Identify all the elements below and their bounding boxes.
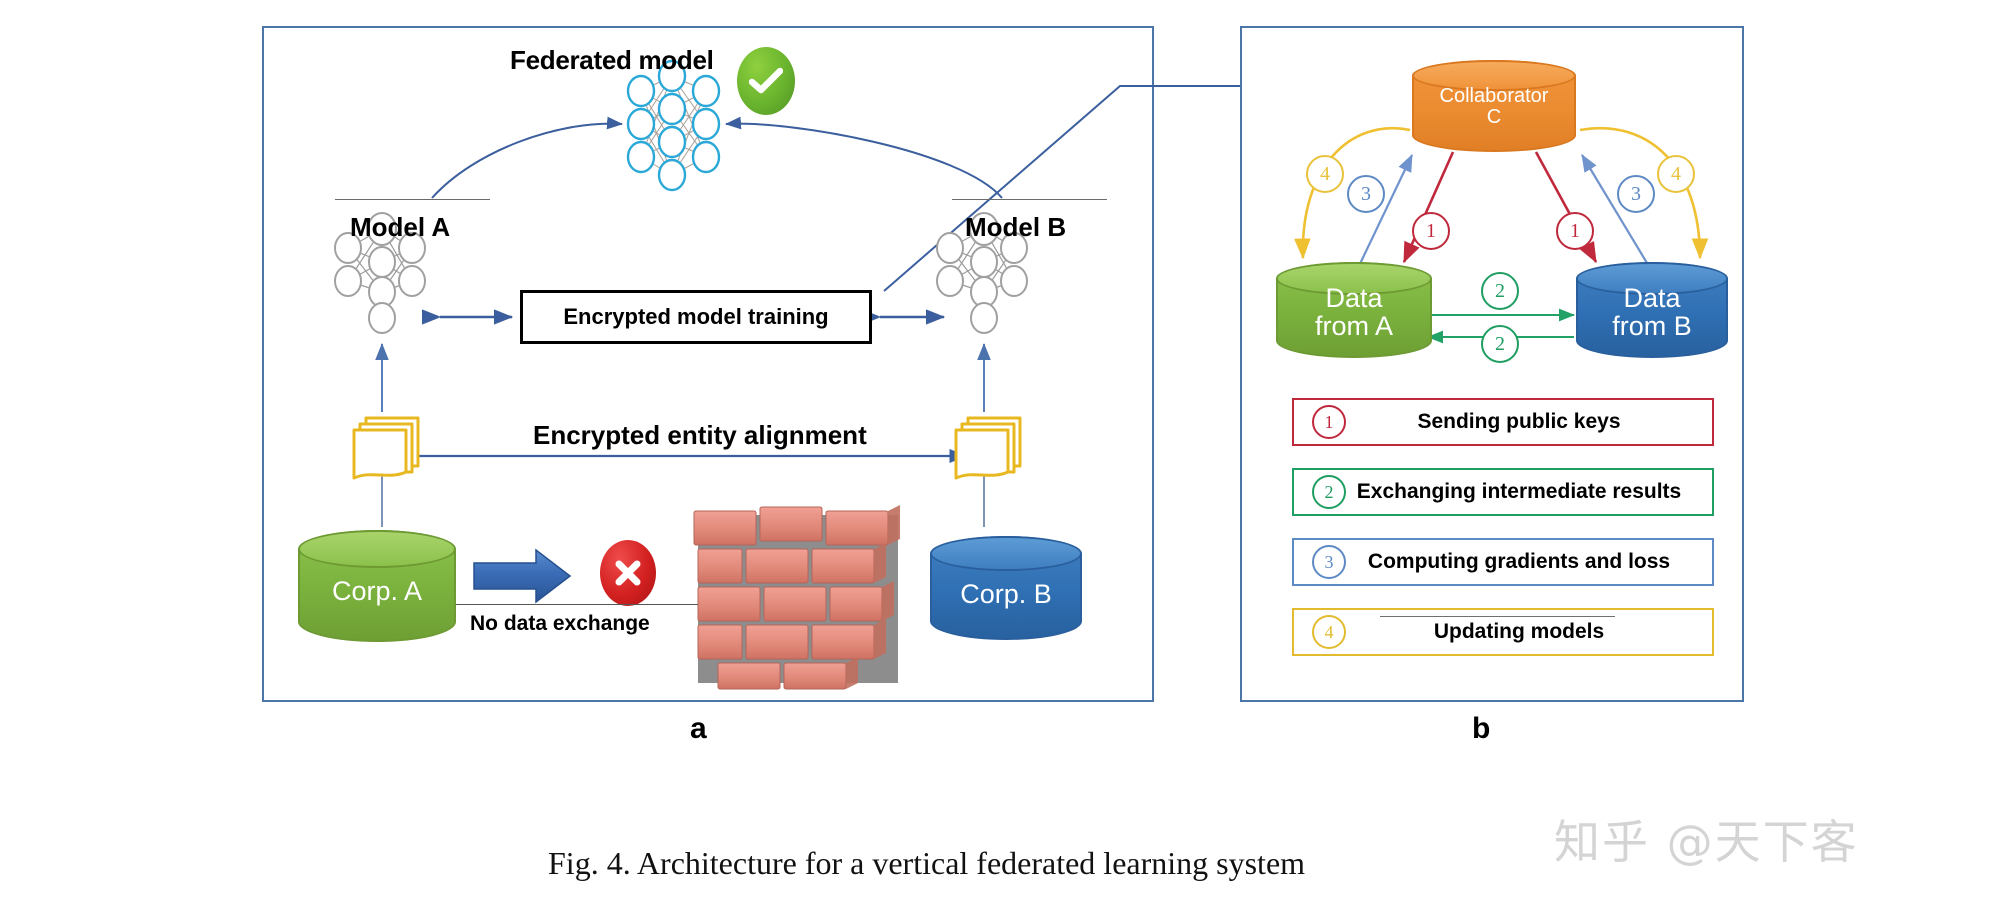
legend-row-3: 3 Computing gradients and loss	[1292, 538, 1714, 586]
cross-badge-icon	[600, 540, 656, 606]
data-from-b-label: Data from B	[1576, 284, 1728, 341]
figure-caption: Fig. 4. Architecture for a vertical fede…	[548, 845, 1305, 882]
data-a-line2: from A	[1276, 312, 1432, 340]
collaborator-line1: Collaborator	[1412, 86, 1576, 107]
legend-badge-2: 2	[1312, 475, 1346, 509]
step-marker-1-left: 1	[1412, 212, 1450, 250]
data-b-line2: from B	[1576, 312, 1728, 340]
collaborator-line2: C	[1412, 107, 1576, 128]
legend-badge-4: 4	[1312, 615, 1346, 649]
step-marker-3-right: 3	[1617, 175, 1655, 213]
figure-root: Federated model Model A Model B Encrypte…	[0, 0, 2006, 906]
model-b-rule	[952, 199, 1107, 200]
legend-text-3: Computing gradients and loss	[1346, 550, 1712, 574]
legend-row-4-rule	[1380, 616, 1615, 617]
no-data-exchange-rule	[438, 604, 698, 605]
step-marker-4-left: 4	[1306, 155, 1344, 193]
corp-b-label: Corp. B	[930, 580, 1082, 608]
legend-row-1: 1 Sending public keys	[1292, 398, 1714, 446]
legend-badge-3: 3	[1312, 545, 1346, 579]
check-mark-icon	[749, 67, 783, 95]
model-a-rule	[335, 199, 490, 200]
step-marker-2-bottom: 2	[1481, 325, 1519, 363]
federated-model-title: Federated model	[510, 45, 714, 76]
collaborator-label: Collaborator C	[1412, 86, 1576, 128]
x-mark-icon	[613, 558, 643, 588]
no-data-exchange-label: No data exchange	[470, 612, 650, 636]
watermark-text: 知乎 @天下客	[1554, 806, 1859, 872]
step-marker-3-left: 3	[1347, 175, 1385, 213]
panel-b-letter: b	[1472, 712, 1490, 746]
legend-badge-1: 1	[1312, 405, 1346, 439]
collaborator-c-cylinder: Collaborator C	[1412, 60, 1576, 152]
model-b-label: Model B	[965, 212, 1066, 243]
corp-a-label: Corp. A	[298, 577, 456, 605]
step-marker-1-right: 1	[1556, 212, 1594, 250]
cylinder-top	[930, 536, 1082, 571]
corp-b-database-cylinder: Corp. B	[930, 536, 1082, 640]
panel-a-letter: a	[690, 712, 707, 746]
check-badge-icon	[737, 47, 795, 115]
data-from-a-cylinder: Data from A	[1276, 262, 1432, 358]
data-from-b-cylinder: Data from B	[1576, 262, 1728, 358]
data-from-a-label: Data from A	[1276, 284, 1432, 341]
brick-wall-icon	[688, 505, 920, 691]
encrypted-model-training-box: Encrypted model training	[520, 290, 872, 344]
cylinder-top	[298, 530, 456, 568]
data-a-line1: Data	[1276, 284, 1432, 312]
corp-a-database-cylinder: Corp. A	[298, 530, 456, 642]
legend-text-1: Sending public keys	[1346, 410, 1712, 434]
step-marker-4-right: 4	[1657, 155, 1695, 193]
step-marker-2-top: 2	[1481, 272, 1519, 310]
data-b-line1: Data	[1576, 284, 1728, 312]
legend-text-4: Updating models	[1346, 620, 1712, 644]
model-a-label: Model A	[350, 212, 450, 243]
encrypted-entity-alignment-label: Encrypted entity alignment	[533, 420, 867, 451]
legend-row-2: 2 Exchanging intermediate results	[1292, 468, 1714, 516]
encrypted-model-training-label: Encrypted model training	[523, 293, 869, 341]
legend-text-2: Exchanging intermediate results	[1346, 480, 1712, 504]
